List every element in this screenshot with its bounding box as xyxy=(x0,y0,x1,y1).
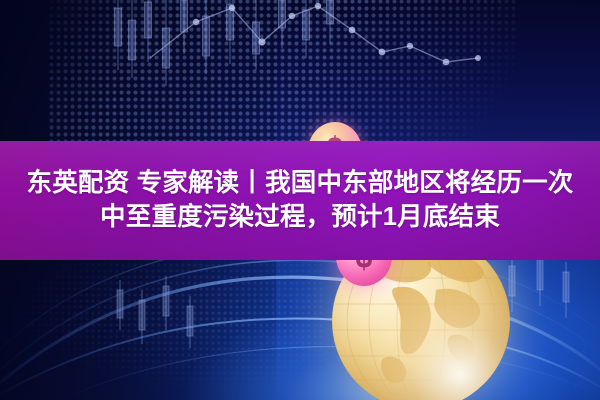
headline-line-2: 中至重度污染过程，预计1月底结束 xyxy=(100,204,500,231)
headline-text-block: 东英配资 专家解读丨我国中东部地区将经历一次 中至重度污染过程，预计1月底结束 xyxy=(0,141,600,260)
headline-line-1: 东英配资 专家解读丨我国中东部地区将经历一次 xyxy=(27,170,574,197)
banner-image: $ xyxy=(0,0,600,400)
